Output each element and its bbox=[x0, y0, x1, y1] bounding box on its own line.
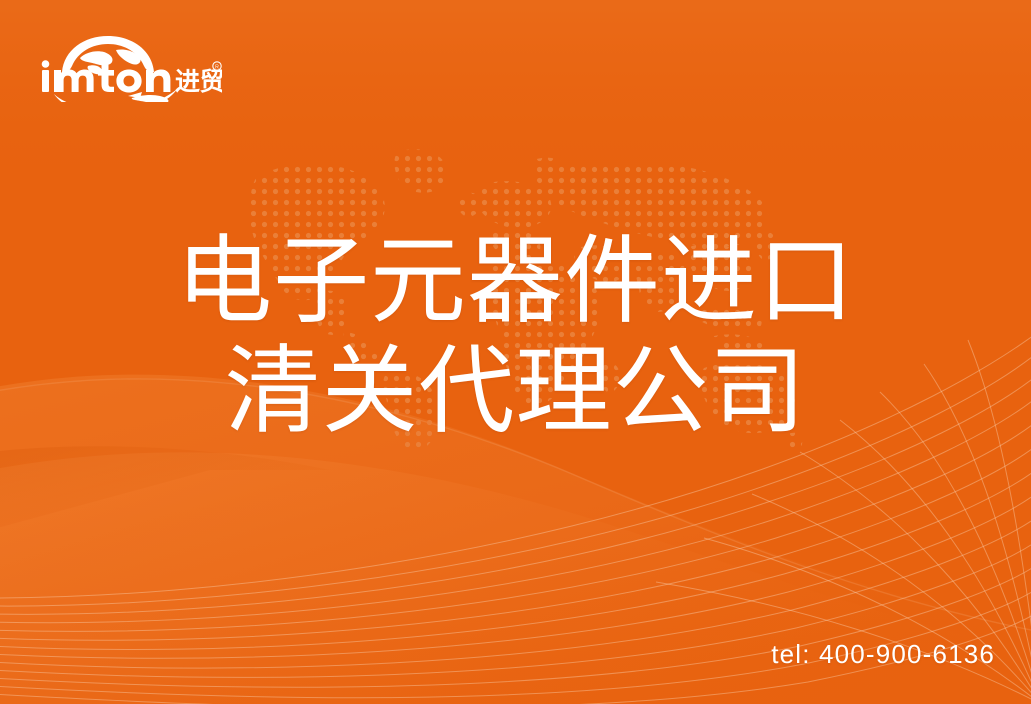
headline-line-2: 清关代理公司 bbox=[0, 338, 1031, 446]
brand-logo[interactable]: 进贸通 R bbox=[36, 26, 222, 102]
page-title: 电子元器件进口 清关代理公司 bbox=[0, 228, 1031, 445]
promo-banner: 进贸通 R 电子元器件进口 清关代理公司 tel: 400-900-6136 bbox=[0, 0, 1031, 704]
headline-line-1: 电子元器件进口 bbox=[0, 228, 1031, 336]
logo-wordmark-chinese: 进贸通 bbox=[175, 67, 222, 96]
contact-phone-text: tel: 400-900-6136 bbox=[771, 639, 995, 669]
svg-text:R: R bbox=[215, 65, 219, 71]
contact-phone[interactable]: tel: 400-900-6136 bbox=[771, 639, 995, 670]
